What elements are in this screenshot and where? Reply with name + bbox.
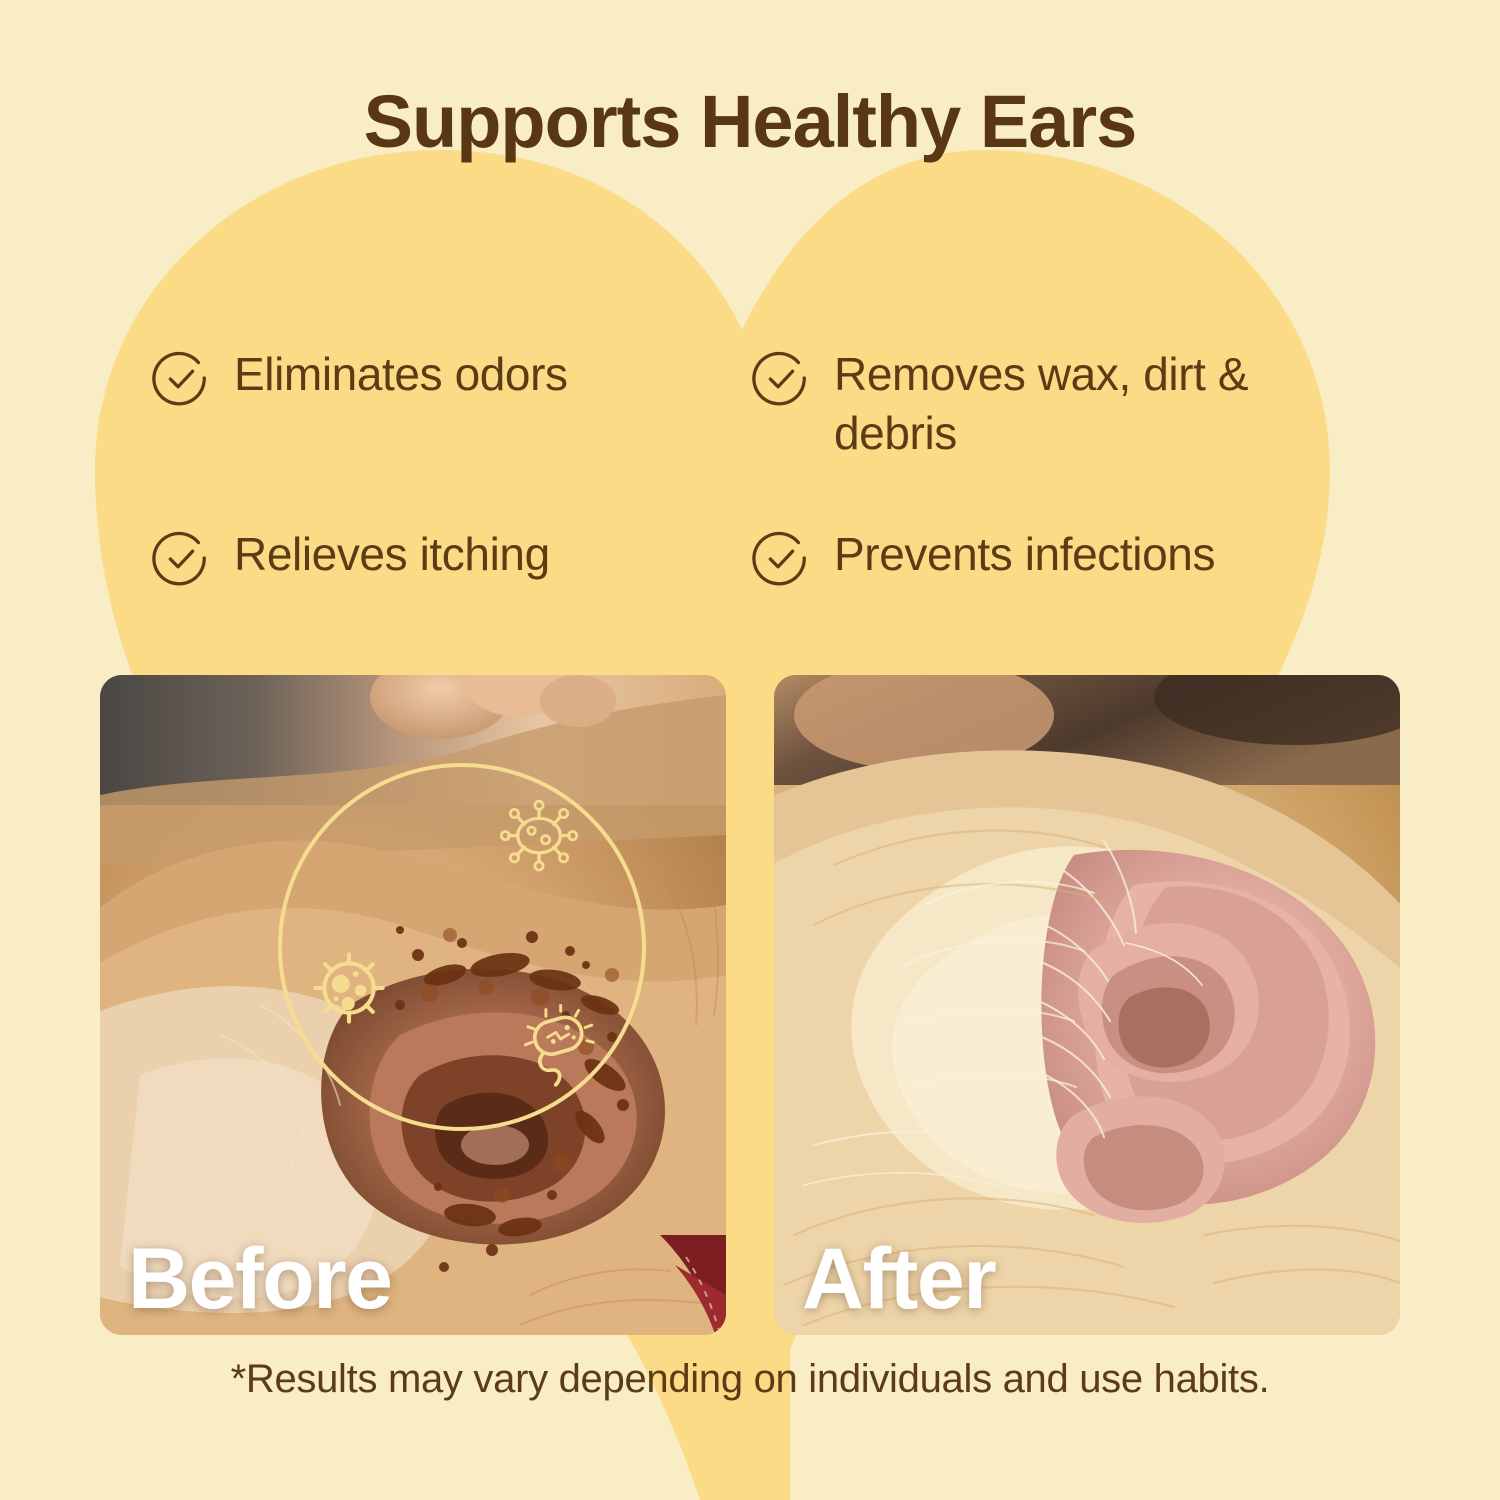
page-title: Supports Healthy Ears bbox=[0, 82, 1500, 162]
benefits-list: Eliminates odors Removes wax, dirt & deb… bbox=[150, 345, 1365, 591]
benefit-item-removes-wax-dirt-debris: Removes wax, dirt & debris bbox=[750, 345, 1365, 525]
after-label: After bbox=[802, 1232, 995, 1327]
before-after-comparison: Before bbox=[100, 675, 1400, 1335]
after-photo-card: After bbox=[774, 675, 1400, 1335]
check-circle-icon bbox=[150, 349, 212, 411]
benefit-label: Relieves itching bbox=[234, 525, 550, 584]
results-disclaimer: *Results may vary depending on individua… bbox=[0, 1357, 1500, 1402]
benefit-item-eliminates-odors: Eliminates odors bbox=[150, 345, 750, 525]
before-label: Before bbox=[128, 1232, 391, 1327]
benefit-item-relieves-itching: Relieves itching bbox=[150, 525, 750, 591]
check-circle-icon bbox=[750, 349, 812, 411]
virus-icon bbox=[498, 793, 580, 875]
bacteria-rod-icon bbox=[518, 1003, 600, 1093]
benefit-label: Eliminates odors bbox=[234, 345, 568, 404]
germ-cell-icon bbox=[308, 947, 390, 1029]
benefit-item-prevents-infections: Prevents infections bbox=[750, 525, 1365, 591]
before-photo-card: Before bbox=[100, 675, 726, 1335]
benefit-label: Removes wax, dirt & debris bbox=[834, 345, 1354, 463]
check-circle-icon bbox=[750, 529, 812, 591]
product-benefit-poster: Supports Healthy Ears Eliminates odors R… bbox=[0, 0, 1500, 1500]
check-circle-icon bbox=[150, 529, 212, 591]
benefit-label: Prevents infections bbox=[834, 525, 1215, 584]
